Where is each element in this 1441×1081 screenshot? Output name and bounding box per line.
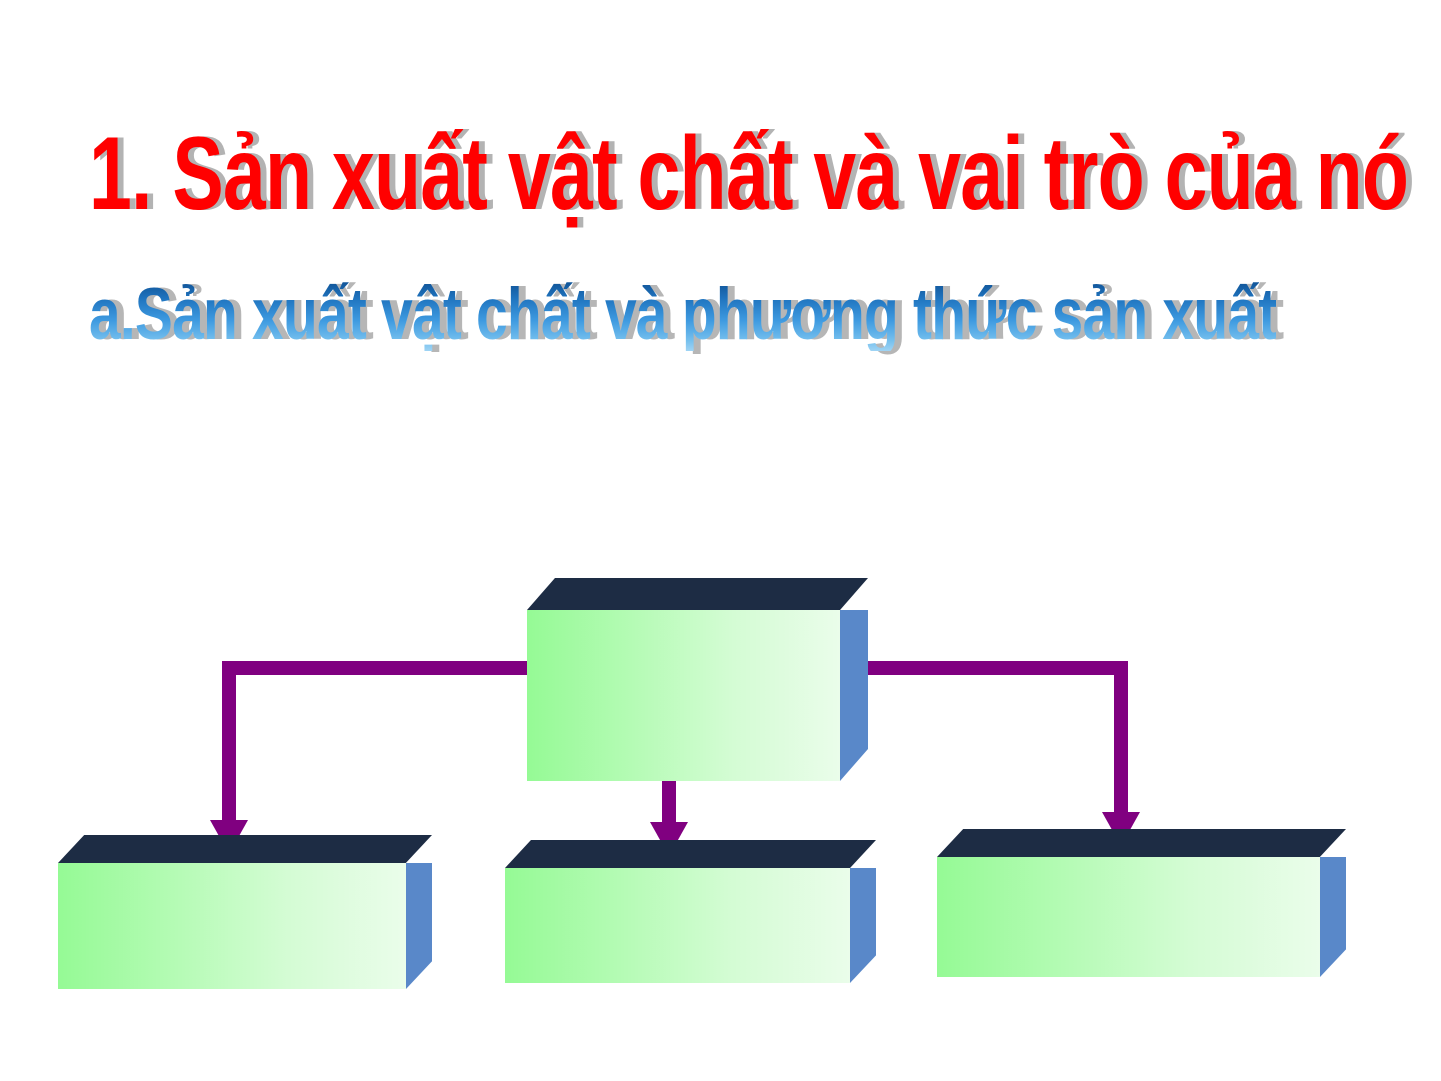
- diagram-box-child-right-label: [937, 857, 1320, 977]
- diagram-box-parent[interactable]: [527, 610, 840, 781]
- diagram-box-child-left[interactable]: [58, 863, 406, 989]
- box-top-face: [505, 840, 876, 868]
- box-top-face: [527, 578, 868, 610]
- connector-parent-to-left-vertical: [222, 661, 236, 823]
- box-side-face: [406, 863, 432, 989]
- diagram-box-child-left-label: [58, 863, 406, 989]
- box-side-face: [840, 610, 868, 781]
- connector-parent-to-right-vertical: [1114, 661, 1128, 814]
- box-top-face: [58, 835, 432, 863]
- diagram-box-child-middle[interactable]: [505, 868, 850, 983]
- org-chart-diagram: [0, 0, 1441, 1081]
- box-top-face: [937, 829, 1346, 857]
- diagram-box-parent-label: [527, 610, 840, 781]
- presentation-slide: 1. Sản xuất vật chất và vai trò của nó 1…: [0, 0, 1441, 1081]
- connector-parent-to-right-horizontal: [866, 661, 1128, 675]
- connector-parent-to-left-horizontal: [222, 661, 532, 675]
- diagram-box-child-middle-label: [505, 868, 850, 983]
- box-side-face: [1320, 857, 1346, 977]
- diagram-box-child-right[interactable]: [937, 857, 1320, 977]
- box-side-face: [850, 868, 876, 983]
- connector-parent-to-middle-vertical: [662, 778, 676, 826]
